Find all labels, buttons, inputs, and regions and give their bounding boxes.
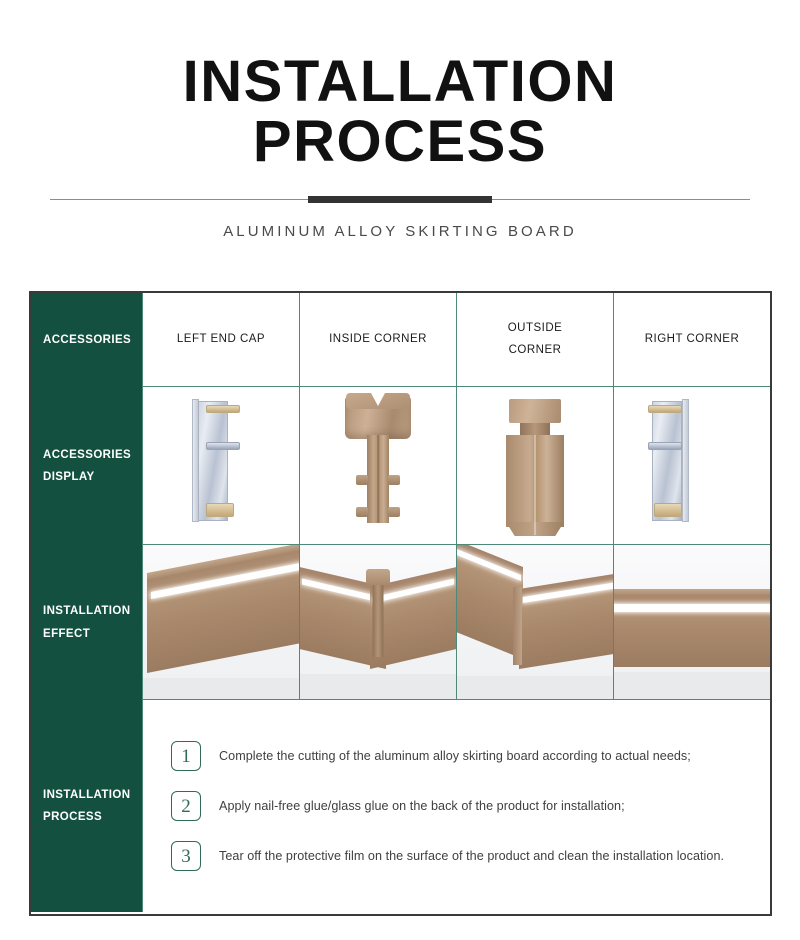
step-text-2: Apply nail-free glue/glass glue on the b…: [219, 799, 625, 813]
row-label-accessories-text: ACCESSORIES: [43, 329, 142, 351]
column-header-left-end-cap: LEFT END CAP: [142, 293, 299, 387]
right-cap-clip-top: [648, 405, 682, 413]
divider-accent-bar: [308, 196, 492, 203]
inside-corner-joint-stem: [373, 585, 384, 657]
accessories-table: ACCESSORIES LEFT END CAP INSIDE CORNER O…: [29, 291, 772, 916]
page-title: INSTALLATION PROCESS: [80, 52, 720, 171]
step-number-badge-2: 2: [171, 791, 201, 821]
row-label-installation-effect-l1: INSTALLATION: [43, 600, 142, 622]
installation-effect-row: INSTALLATION EFFECT: [31, 545, 770, 700]
straight-run-effect-image: [143, 545, 299, 700]
left-end-cap-graphic: [192, 387, 238, 537]
inside-corner-wing-left-lower: [356, 507, 368, 517]
effect-cell-outside-corner: [456, 545, 613, 700]
column-header-outside-corner: OUTSIDE CORNER: [456, 293, 613, 387]
page-subtitle: ALUMINUM ALLOY SKIRTING BOARD: [0, 223, 800, 240]
row-label-installation-process-l2: PROCESS: [43, 806, 142, 828]
column-header-right-corner: RIGHT CORNER: [613, 293, 770, 387]
list-item: 3 Tear off the protective film on the su…: [171, 841, 756, 871]
list-item: 1 Complete the cutting of the aluminum a…: [171, 741, 756, 771]
right-cap-edge: [682, 399, 689, 522]
end-detail-effect-image: [614, 545, 770, 700]
page-title-line-1: INSTALLATION: [183, 49, 618, 114]
cap-clip-top: [206, 405, 240, 413]
row-label-installation-process-l1: INSTALLATION: [43, 784, 142, 806]
outside-corner-image: [457, 387, 613, 545]
inside-corner-wing-right-lower: [388, 507, 400, 517]
right-cap-clip-middle: [648, 442, 682, 450]
cap-clip-middle: [206, 442, 240, 450]
accessory-cell-left-end-cap: [142, 387, 299, 545]
page-title-line-2: PROCESS: [80, 112, 720, 172]
effect-cell-straight-run: [142, 545, 299, 700]
outside-corner-cap: [509, 399, 561, 423]
right-corner-image: [614, 387, 770, 545]
column-header-inside-corner: INSIDE CORNER: [299, 293, 456, 387]
step-text-3: Tear off the protective film on the surf…: [219, 849, 724, 863]
column-header-inside-corner-l1: INSIDE CORNER: [329, 333, 427, 345]
step-text-1: Complete the cutting of the aluminum all…: [219, 749, 691, 763]
left-end-cap-image: [143, 387, 299, 545]
installation-process-infographic: INSTALLATION PROCESS ALUMINUM ALLOY SKIR…: [0, 0, 800, 940]
outside-corner-effect-image: [457, 545, 613, 700]
led-strip: [614, 604, 770, 612]
list-item: 2 Apply nail-free glue/glass glue on the…: [171, 791, 756, 821]
row-label-installation-effect: INSTALLATION EFFECT: [31, 545, 142, 700]
step-number-badge-3: 3: [171, 841, 201, 871]
step-number-badge-1: 1: [171, 741, 201, 771]
end-detail-board-top: [614, 589, 770, 595]
installation-effect-cells: [142, 545, 770, 700]
header-cells: LEFT END CAP INSIDE CORNER OUTSIDE CORNE…: [142, 293, 770, 387]
inside-corner-wing-right-upper: [388, 475, 400, 485]
accessories-display-row: ACCESSORIES DISPLAY: [31, 387, 770, 545]
column-header-right-corner-l1: RIGHT CORNER: [645, 333, 740, 345]
inside-corner-stem: [367, 435, 389, 523]
inside-corner-image: [300, 387, 456, 545]
table-header-row: ACCESSORIES LEFT END CAP INSIDE CORNER O…: [31, 293, 770, 387]
effect-cell-end-detail: [613, 545, 770, 700]
title-divider: [50, 195, 750, 205]
row-label-accessories: ACCESSORIES: [31, 293, 142, 387]
row-label-accessories-display-l1: ACCESSORIES: [43, 444, 142, 466]
cap-clip-bottom: [206, 503, 234, 517]
page-header: INSTALLATION PROCESS ALUMINUM ALLOY SKIR…: [0, 0, 800, 240]
installation-process-row: INSTALLATION PROCESS 1 Complete the cutt…: [31, 700, 770, 912]
effect-cell-inside-corner: [299, 545, 456, 700]
outside-corner-joint: [513, 587, 522, 665]
row-label-accessories-display-l2: DISPLAY: [43, 466, 142, 488]
inside-corner-effect-image: [300, 545, 456, 700]
inside-corner-wing-left-upper: [356, 475, 368, 485]
right-corner-graphic: [652, 387, 698, 537]
row-label-installation-effect-l2: EFFECT: [43, 623, 142, 645]
row-label-installation-process: INSTALLATION PROCESS: [31, 700, 142, 912]
row-label-accessories-display: ACCESSORIES DISPLAY: [31, 387, 142, 545]
accessory-cell-outside-corner: [456, 387, 613, 545]
column-header-outside-corner-l1: OUTSIDE: [508, 318, 563, 340]
accessory-cell-right-corner: [613, 387, 770, 545]
right-cap-clip-bottom: [654, 503, 682, 517]
installation-steps-list: 1 Complete the cutting of the aluminum a…: [142, 700, 770, 912]
column-header-left-end-cap-l1: LEFT END CAP: [177, 333, 265, 345]
outside-corner-ridge: [534, 435, 536, 535]
column-header-outside-corner-l2: CORNER: [508, 340, 563, 362]
accessory-cell-inside-corner: [299, 387, 456, 545]
accessories-display-cells: [142, 387, 770, 545]
